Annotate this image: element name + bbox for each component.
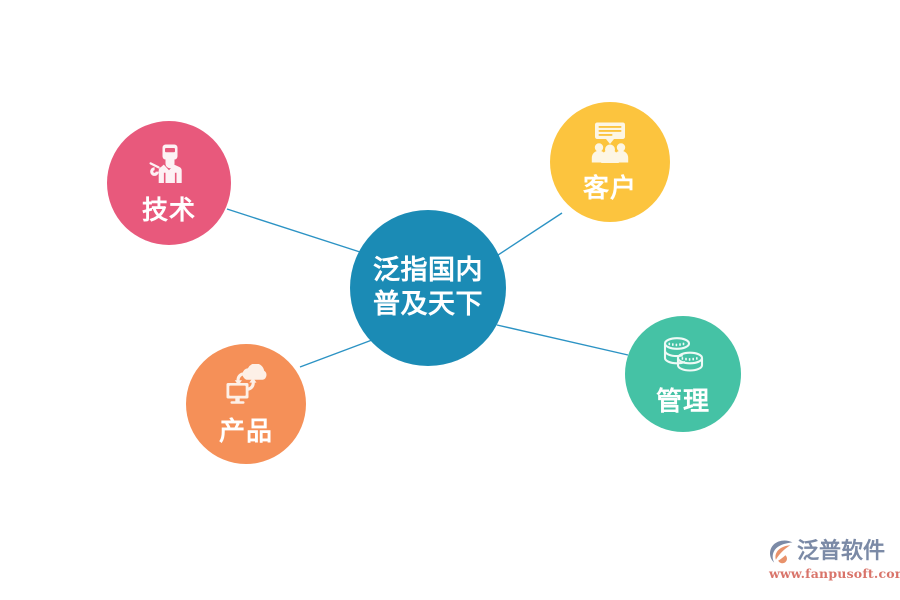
connector-center-product bbox=[300, 340, 372, 367]
center-node-label-line2: 普及天下 bbox=[373, 289, 483, 320]
connector-center-customer bbox=[495, 213, 562, 257]
fanpu-logo-icon bbox=[768, 539, 794, 565]
node-product[interactable]: 产品 bbox=[186, 344, 306, 464]
node-customer-label: 客户 bbox=[583, 168, 637, 205]
diagram-canvas: 泛指国内 普及天下 技术 bbox=[0, 0, 900, 600]
coin-stack-icon bbox=[658, 334, 708, 378]
watermark-brand-row: 泛普软件 bbox=[768, 539, 885, 565]
connector-center-manage bbox=[497, 325, 628, 355]
welder-worker-icon bbox=[145, 143, 193, 187]
center-node[interactable]: 泛指国内 普及天下 bbox=[350, 210, 506, 366]
node-management-label: 管理 bbox=[656, 381, 710, 418]
node-product-label: 产品 bbox=[219, 411, 273, 448]
node-management[interactable]: 管理 bbox=[625, 316, 741, 432]
people-speech-bubble-icon bbox=[586, 121, 634, 165]
center-node-label-line1: 泛指国内 bbox=[373, 255, 483, 286]
node-technology-label: 技术 bbox=[142, 190, 196, 227]
watermark-url-text: www.fanpusoft.com bbox=[769, 568, 900, 581]
center-node-label: 泛指国内 普及天下 bbox=[373, 254, 483, 322]
node-customer[interactable]: 客户 bbox=[550, 102, 670, 222]
watermark: 泛普软件 www.fanpusoft.com bbox=[768, 532, 896, 588]
watermark-brand-text: 泛普软件 bbox=[797, 541, 885, 563]
connector-center-tech bbox=[227, 209, 360, 252]
cloud-monitor-sync-icon bbox=[221, 364, 271, 408]
node-technology[interactable]: 技术 bbox=[107, 121, 231, 245]
